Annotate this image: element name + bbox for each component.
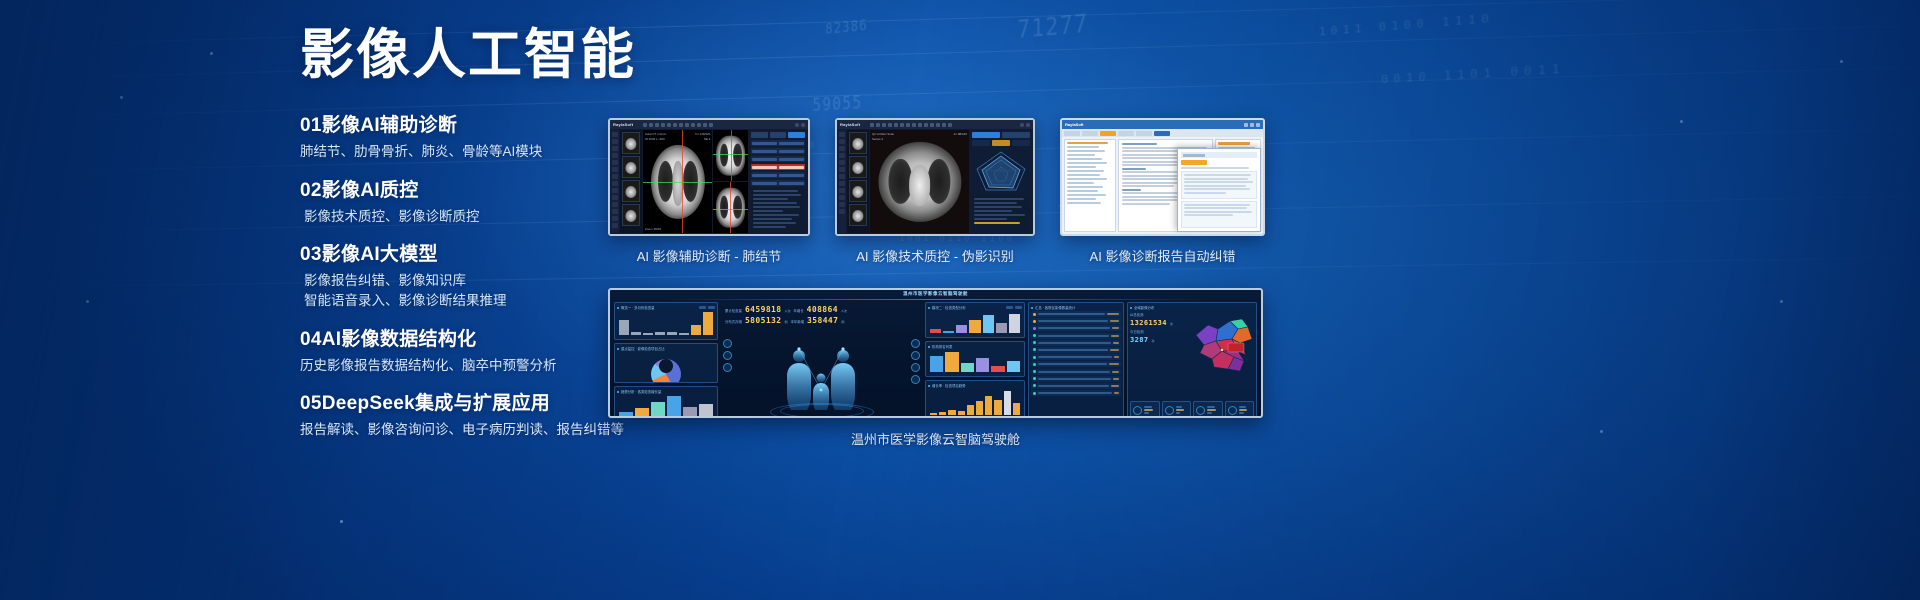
feature-title-04: 04AI影像数据结构化 (300, 324, 640, 351)
finding-row[interactable] (751, 156, 805, 162)
panel-monthly-bar-chart[interactable]: 概览一 · 多月份检查量 (614, 302, 718, 340)
screenshot-frame-3: RaylaSoft (1060, 118, 1265, 236)
kpi-label: 今日检测 (1130, 329, 1144, 334)
panel-title: 增长率 · 检查项目趋势 (932, 383, 966, 388)
dashboard-column-3: 模块二 · 检查类型分布 机构排名列表 (925, 302, 1025, 418)
panel-header: 全域影像分布 (1130, 305, 1254, 310)
feature-subtitle-04-line-1: 历史影像报告数据结构化、脑卒中预警分析 (300, 356, 640, 376)
dashboard-column-5: 全域影像分布 AI总检测 13261534 次 今日 (1127, 302, 1257, 418)
screenshot-caption-2: AI 影像技术质控 - 伪影识别 (835, 246, 1035, 265)
panel-title: 模块二 · 检查类型分布 (932, 305, 966, 310)
toolbar-icons-1[interactable] (643, 123, 713, 127)
kpi-value: 3287 (1130, 336, 1148, 344)
map-kpi-block: AI总检测 13261534 次 今日检测 3287 次 (1130, 311, 1180, 401)
kpi-row-ai-total: AI总检测 (1130, 312, 1180, 317)
lung-icon (1133, 406, 1142, 415)
thumbnail-item[interactable] (622, 156, 640, 178)
thumbnail-item[interactable] (849, 132, 867, 154)
app-titlebar-2: RaylaSoft (837, 120, 1033, 129)
qc-subtabs-2[interactable] (972, 140, 1030, 146)
thumbnail-item[interactable] (622, 132, 640, 154)
window-controls-2[interactable] (1020, 123, 1030, 127)
panel-title: 汇总 · 各院区影像数量统计 (1035, 305, 1075, 310)
kpi-unit: 次 (1170, 322, 1173, 326)
bone-icon (1196, 406, 1205, 415)
kpi-row-ai-today: 今日检测 (1130, 329, 1180, 334)
kpi-label: 分布式存储 (725, 319, 742, 324)
thumbnail-item[interactable] (622, 180, 640, 202)
footer-card[interactable] (1162, 401, 1192, 418)
dashboard-column-1: 概览一 · 多月份检查量 (614, 302, 718, 418)
feature-title-01: 01影像AI辅助诊断 (300, 110, 640, 137)
report-tree-3[interactable] (1064, 139, 1116, 232)
bar-chart-institution (928, 350, 1022, 372)
feature-subtitle-01: 肺结节、肋骨骨折、肺炎、骨龄等AI模块 (300, 142, 640, 162)
panel-growth-bar-chart[interactable]: 趋势分析 · 各类检查增长量 (614, 386, 718, 418)
screenshot-card-1[interactable]: RaylaSoft (608, 118, 810, 265)
hologram-chip[interactable] (911, 339, 920, 348)
kpi-value: 6459818 (745, 305, 782, 314)
hologram-chips-right[interactable] (911, 339, 920, 384)
list-item[interactable] (1031, 311, 1121, 317)
screenshot-frame-2: RaylaSoft (835, 118, 1035, 236)
window-controls-1[interactable] (795, 123, 805, 127)
dashboard-column-2: 累计检查量 6459818 人次 年增长 408864 人次 分布式存储 580… (721, 302, 922, 418)
feature-title-03: 03影像AI大模型 (300, 239, 640, 266)
ai-correction-popup-3[interactable] (1177, 148, 1261, 232)
ct-secondary-views-1[interactable] (713, 130, 748, 233)
list-item[interactable] (1031, 369, 1121, 375)
ai-findings-panel-1[interactable] (749, 130, 807, 233)
list-item[interactable] (1031, 376, 1121, 382)
screenshot-card-2[interactable]: RaylaSoft (835, 118, 1035, 265)
qc-tabs-2[interactable] (972, 132, 1030, 138)
kpi-value: 13261534 (1130, 319, 1167, 327)
popup-header-3 (1181, 152, 1257, 158)
brain-icon (1165, 406, 1174, 415)
popup-content-block-2 (1181, 201, 1257, 229)
kpi-unit: 人次 (841, 309, 847, 313)
panel-header: 汇总 · 各院区影像数量统计 (1031, 305, 1121, 310)
report-text-1 (751, 188, 805, 231)
panel-header: 重点监控 · 影像检查项目占比 (617, 346, 715, 351)
kpi-value: 358447 (807, 316, 838, 325)
panel-title: 趋势分析 · 各类检查增长量 (621, 389, 661, 394)
feature-item-02[interactable]: 02影像AI质控 影像技术质控、影像诊断质控 (300, 175, 640, 227)
list-item[interactable] (1031, 390, 1121, 396)
list-item[interactable] (1031, 347, 1121, 353)
finding-row[interactable] (751, 180, 805, 186)
hologram-chip[interactable] (723, 351, 732, 360)
screenshot-card-3[interactable]: RaylaSoft (1060, 118, 1265, 265)
dashboard-body: 概览一 · 多月份检查量 (610, 300, 1261, 418)
panel-buttons-1[interactable] (751, 132, 805, 138)
dashboard-caption: 温州市医学影像云智脑驾驶舱 (608, 429, 1263, 448)
qc-radar-chart-2 (972, 148, 1030, 194)
footer-card[interactable] (1193, 401, 1223, 418)
kpi-unit: 人次 (784, 309, 790, 313)
human-hologram-visual (721, 335, 922, 418)
panel-title: 机构排名列表 (932, 344, 952, 349)
kpi-label: 本年新增 (790, 319, 804, 324)
feature-subtitle-03: 影像报告纠错、影像知识库 智能语音录入、影像诊断结果推理 (300, 271, 640, 310)
popup-action-button-3[interactable] (1181, 160, 1207, 165)
panel-header: 趋势分析 · 各类检查增长量 (617, 389, 715, 394)
thumbnail-item[interactable] (849, 204, 867, 226)
feature-list-column: 影像人工智能 01影像AI辅助诊断 肺结节、肋骨骨折、肺炎、骨龄等AI模块 02… (300, 26, 640, 453)
bar-chart-growth (617, 395, 715, 418)
list-item[interactable] (1031, 383, 1121, 389)
ct-coronal-view-1[interactable] (713, 130, 748, 181)
app-titlebar-1: RaylaSoft (610, 120, 808, 129)
kpi-label: 累计检查量 (725, 308, 742, 313)
kpi-row-1: 累计检查量 6459818 人次 年增长 408864 人次 (725, 305, 918, 314)
page-title: 影像人工智能 (300, 26, 640, 84)
panel-trend-chart[interactable]: 增长率 · 检查项目趋势 (925, 380, 1025, 418)
panel-type-distribution[interactable]: 模块二 · 检查类型分布 (925, 302, 1025, 338)
ct-axial-view-2[interactable]: QC Artifact ScanSeries 2 Im 88/240 (870, 130, 969, 233)
map-svg (1182, 311, 1254, 377)
kpi-unit: 次 (1151, 339, 1154, 343)
footer-card[interactable] (1225, 401, 1255, 418)
hologram-chip[interactable] (723, 339, 732, 348)
panel-header: 概览一 · 多月份检查量 (617, 305, 715, 310)
app-logo-2: RaylaSoft (840, 122, 860, 127)
feature-title-05: 05DeepSeek集成与扩展应用 (300, 388, 640, 415)
hologram-chips-left[interactable] (723, 339, 732, 372)
dashboard-header: 温州市医学影像云智脑驾驶舱 (610, 290, 1261, 300)
list-item[interactable] (1031, 361, 1121, 367)
thumbnail-item[interactable] (622, 204, 640, 226)
feature-subtitle-04: 历史影像报告数据结构化、脑卒中预警分析 (300, 356, 640, 376)
panel-ranking-list[interactable]: 汇总 · 各院区影像数量统计 (1028, 302, 1124, 418)
panel-title: 概览一 · 多月份检查量 (621, 305, 655, 310)
list-item[interactable] (1031, 354, 1121, 360)
panel-title: 全域影像分布 (1134, 305, 1154, 310)
panel-header: 增长率 · 检查项目趋势 (928, 383, 1022, 388)
feature-item-03[interactable]: 03影像AI大模型 影像报告纠错、影像知识库 智能语音录入、影像诊断结果推理 (300, 239, 640, 310)
wenzhou-region-map[interactable] (1182, 311, 1254, 401)
kpi-label: AI总检测 (1130, 312, 1143, 317)
screenshot-frame-1: RaylaSoft (608, 118, 810, 236)
dashboard-card[interactable]: 温州市医学影像云智脑驾驶舱 概览一 · 多月份检查量 (608, 288, 1263, 448)
radar-chart-svg (975, 149, 1027, 193)
bar-chart-monthly (617, 311, 715, 335)
body-icon (1228, 406, 1237, 415)
panel-kpi-summary: 累计检查量 6459818 人次 年增长 408864 人次 分布式存储 580… (721, 302, 922, 332)
finding-row[interactable] (751, 148, 805, 154)
map-footer-cards[interactable] (1130, 401, 1254, 418)
thumbnail-item[interactable] (849, 180, 867, 202)
feature-item-04[interactable]: 04AI影像数据结构化 历史影像报告数据结构化、脑卒中预警分析 (300, 324, 640, 376)
dashboard-column-4: 汇总 · 各院区影像数量统计 (1028, 302, 1124, 418)
tool-rail-1[interactable] (611, 130, 619, 233)
feature-subtitle-01-line-1: 肺结节、肋骨骨折、肺炎、骨龄等AI模块 (300, 142, 640, 162)
kpi-value: 408864 (807, 305, 838, 314)
kpi-label: 年增长 (793, 308, 803, 313)
dashboard-frame: 温州市医学影像云智脑驾驶舱 概览一 · 多月份检查量 (608, 288, 1263, 418)
app-titlebar-3: RaylaSoft (1062, 120, 1263, 129)
bar-chart-type (928, 311, 1022, 333)
hologram-chip[interactable] (723, 363, 732, 372)
tool-rail-2[interactable] (838, 130, 846, 233)
panel-donut-chart[interactable]: 重点监控 · 影像检查项目占比 (614, 343, 718, 383)
feature-item-05[interactable]: 05DeepSeek集成与扩展应用 报告解读、影像咨询问诊、电子病历判读、报告纠… (300, 388, 640, 440)
report-tabs-3[interactable] (1062, 129, 1263, 137)
ct-sagittal-view-1[interactable] (713, 182, 748, 233)
feature-items: 01影像AI辅助诊断 肺结节、肋骨骨折、肺炎、骨龄等AI模块 02影像AI质控 … (300, 110, 640, 439)
panel-title: 重点监控 · 影像检查项目占比 (621, 346, 665, 351)
panel-header: 机构排名列表 (928, 344, 1022, 349)
panel-region-map[interactable]: 全域影像分布 AI总检测 13261534 次 今日 (1127, 302, 1257, 418)
thumbnail-item[interactable] (849, 156, 867, 178)
feature-subtitle-02-line-1: 影像技术质控、影像诊断质控 (304, 207, 640, 227)
bar-chart-trend (928, 389, 1022, 415)
app-logo-3: RaylaSoft (1065, 122, 1083, 127)
app-logo-1: RaylaSoft (613, 122, 633, 127)
screenshot-caption-1: AI 影像辅助诊断 - 肺结节 (608, 246, 810, 265)
donut-chart-modality (651, 359, 681, 383)
finding-row[interactable] (751, 172, 805, 178)
footer-card[interactable] (1130, 401, 1160, 418)
dashboard-header-title: 温州市医学影像云智脑驾驶舱 (903, 291, 968, 297)
panel-header: 模块二 · 检查类型分布 (928, 305, 1022, 310)
finding-row-alert[interactable] (751, 164, 805, 170)
list-item[interactable] (1031, 340, 1121, 346)
kpi-unit: 例 (841, 320, 844, 324)
hologram-chip[interactable] (911, 363, 920, 372)
popup-content-block-1 (1181, 171, 1257, 199)
feature-item-01[interactable]: 01影像AI辅助诊断 肺结节、肋骨骨折、肺炎、骨龄等AI模块 (300, 110, 640, 162)
qc-result-list-2 (972, 196, 1030, 231)
list-item[interactable] (1031, 333, 1121, 339)
kpi-value: 5805132 (745, 316, 782, 325)
hologram-chip[interactable] (911, 351, 920, 360)
series-thumbnails-2[interactable] (847, 130, 869, 233)
series-thumbnails-1[interactable] (620, 130, 642, 233)
kpi-unit: 例 (784, 320, 787, 324)
qc-score-panel-2[interactable] (970, 130, 1032, 233)
feature-subtitle-03-line-2: 智能语音录入、影像诊断结果推理 (304, 291, 640, 311)
feature-subtitle-05: 报告解读、影像咨询问诊、电子病历判读、报告纠错等 (300, 420, 640, 440)
kpi-row-ai-today-value: 3287 次 (1130, 336, 1180, 344)
screenshot-caption-3: AI 影像诊断报告自动纠错 (1060, 246, 1265, 265)
list-item[interactable] (1031, 318, 1121, 324)
list-item[interactable] (1031, 325, 1121, 331)
feature-subtitle-03-line-1: 影像报告纠错、影像知识库 (304, 271, 640, 291)
toolbar-icons-2[interactable] (870, 123, 952, 127)
panel-institution-summary[interactable]: 机构排名列表 (925, 341, 1025, 377)
feature-title-02: 02影像AI质控 (300, 175, 640, 202)
feature-subtitle-05-line-1: 报告解读、影像咨询问诊、电子病历判读、报告纠错等 (300, 420, 640, 440)
ct-axial-view-1[interactable]: Axial CT 1.0mmW:1500 L:-600 Im 146/320SE… (643, 130, 712, 233)
feature-subtitle-02: 影像技术质控、影像诊断质控 (300, 207, 640, 227)
kpi-row-2: 分布式存储 5805132 例 本年新增 358447 例 (725, 316, 918, 325)
window-controls-3[interactable] (1244, 123, 1260, 127)
finding-row[interactable] (751, 140, 805, 146)
hologram-chip[interactable] (911, 375, 920, 384)
kpi-row-ai-total-value: 13261534 次 (1130, 319, 1180, 327)
ranking-rows[interactable] (1031, 311, 1121, 418)
